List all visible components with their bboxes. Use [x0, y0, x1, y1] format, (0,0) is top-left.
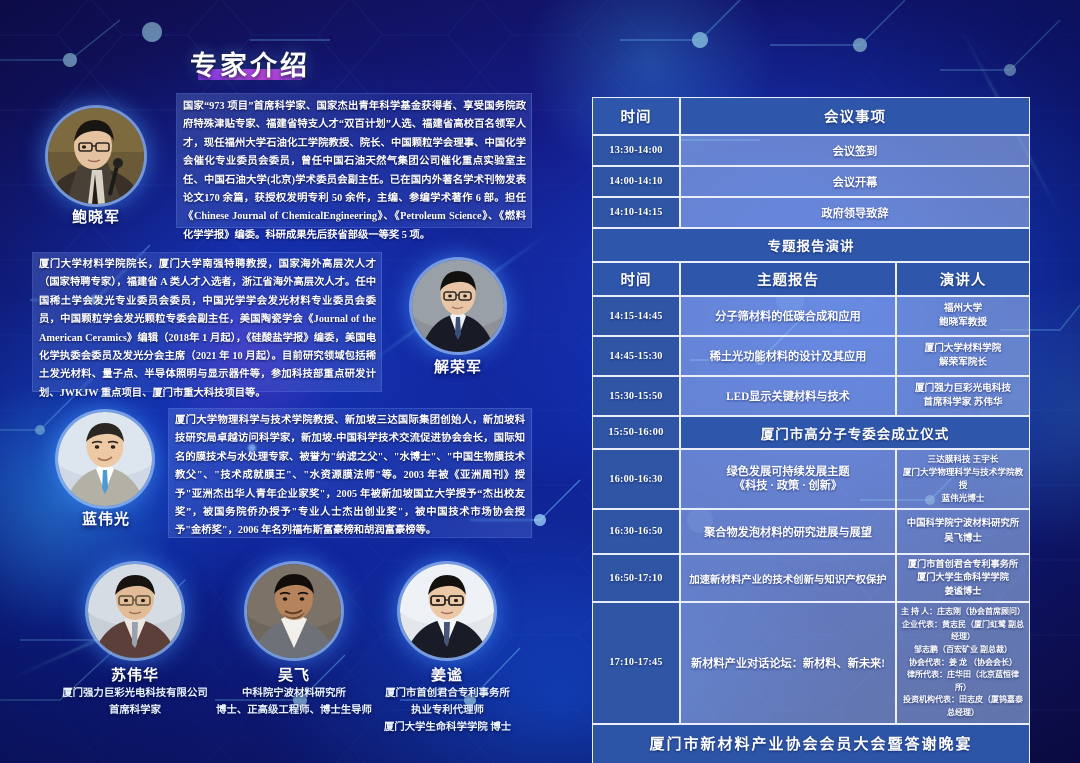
cell-time: 14:15-14:45 [592, 296, 680, 336]
cell-topic: 新材料产业对话论坛：新材料、新未来! [680, 602, 896, 723]
cell-time: 14:00-14:10 [592, 166, 680, 197]
expert-affiliation-6: 厦门市首创君合专利事务所 执业专利代理师 厦门大学生命科学学院 博士 [330, 685, 565, 736]
cell-speaker: 厦门大学材料学院 解荣军院长 [896, 336, 1030, 376]
expert-portrait-1 [48, 108, 144, 204]
expert-portrait-6 [400, 564, 494, 658]
table-band-row-ceremony: 15:50-16:00 厦门市高分子专委会成立仪式 [592, 416, 1030, 449]
expert-name-5: 吴飞 [234, 664, 354, 685]
table-header-row-2: 时间 主题报告 演讲人 [592, 262, 1030, 296]
cell-speaker: 中国科学院宁波材料研究所 吴飞博士 [896, 509, 1030, 554]
cell-speaker: 厦门强力巨彩光电科技 首席科学家 苏伟华 [896, 376, 1030, 416]
cell-time: 16:50-17:10 [592, 554, 680, 602]
portrait-image-4 [88, 564, 182, 658]
final-banquet-label: 厦门市新材料产业协会会员大会暨答谢晚宴 [592, 724, 1030, 763]
agenda-column: 大会议程 时间 会议事项 13:30-14:00 会议签到 14:00-14:1… [560, 0, 1080, 763]
expert-portrait-3 [58, 412, 152, 506]
band-ceremony-label: 厦门市高分子专委会成立仪式 [680, 416, 1030, 449]
expert-bio-text-2: 厦门大学材料学院院长，厦门大学南强特聘教授，国家海外高层次人才（国家特聘专家），… [39, 256, 376, 403]
cell-time: 15:30-15:50 [592, 376, 680, 416]
cell-item: 会议签到 [680, 135, 1030, 166]
table-row: 14:00-14:10 会议开幕 [592, 166, 1030, 197]
cell-item: 会议开幕 [680, 166, 1030, 197]
agenda-table: 时间 会议事项 13:30-14:00 会议签到 14:00-14:10 会议开… [592, 97, 1030, 763]
expert-name-2: 解荣军 [398, 356, 518, 377]
band-talks-label: 专题报告演讲 [592, 228, 1030, 262]
expert-name-6: 姜谧 [387, 664, 507, 685]
cell-time: 16:30-16:50 [592, 509, 680, 554]
cell-forum-panelists: 主 持 人：庄志刚（协会首席顾问） 企业代表：黄志民（厦门虹鹭 副总经理） 邹志… [896, 602, 1030, 723]
experts-section-title: 专家介绍 [190, 44, 310, 83]
expert-bio-text-3: 厦门大学物理科学与技术学院教授、新加坡三达国际集团创始人，新加坡科技研究局卓越访… [175, 412, 525, 541]
cell-time: 14:45-15:30 [592, 336, 680, 376]
table-row: 14:45-15:30 稀土光功能材料的设计及其应用 厦门大学材料学院 解荣军院… [592, 336, 1030, 376]
expert-name-1: 鲍晓军 [36, 206, 156, 227]
cell-topic: 加速新材料产业的技术创新与知识产权保护 [680, 554, 896, 602]
cell-speaker: 三达膜科技 王宇长 厦门大学物理科学与技术学院教授 蓝伟光博士 [896, 449, 1030, 509]
table-final-row: 厦门市新材料产业协会会员大会暨答谢晚宴 [592, 724, 1030, 763]
portrait-image-5 [247, 564, 341, 658]
portrait-image-6 [400, 564, 494, 658]
expert-bio-text-1: 国家“973 项目”首席科学家、国家杰出青年科学基金获得者、享受国务院政府特殊津… [183, 98, 526, 245]
cell-time: 17:10-17:45 [592, 602, 680, 723]
table-row: 13:30-14:00 会议签到 [592, 135, 1030, 166]
cell-topic: LED显示关键材料与技术 [680, 376, 896, 416]
expert-portrait-4 [88, 564, 182, 658]
table-row: 14:15-14:45 分子筛材料的低碳合成和应用 福州大学 鲍晓军教授 [592, 296, 1030, 336]
header-speaker: 演讲人 [896, 262, 1030, 296]
header-time-1: 时间 [592, 97, 680, 135]
cell-time: 14:10-14:15 [592, 197, 680, 228]
cell-time: 13:30-14:00 [592, 135, 680, 166]
table-header-row-1: 时间 会议事项 [592, 97, 1030, 135]
cell-speaker: 福州大学 鲍晓军教授 [896, 296, 1030, 336]
table-row: 16:50-17:10 加速新材料产业的技术创新与知识产权保护 厦门市首创君合专… [592, 554, 1030, 602]
portrait-image-2 [412, 260, 504, 352]
expert-name-4: 苏伟华 [75, 664, 195, 685]
table-row-forum: 17:10-17:45 新材料产业对话论坛：新材料、新未来! 主 持 人：庄志刚… [592, 602, 1030, 723]
cell-time: 15:50-16:00 [592, 416, 680, 449]
cell-topic: 分子筛材料的低碳合成和应用 [680, 296, 896, 336]
expert-name-3: 蓝伟光 [46, 508, 166, 529]
table-row: 15:30-15:50 LED显示关键材料与技术 厦门强力巨彩光电科技 首席科学… [592, 376, 1030, 416]
portrait-image-3 [58, 412, 152, 506]
cell-item: 政府领导致辞 [680, 197, 1030, 228]
header-item: 会议事项 [680, 97, 1030, 135]
cell-topic: 绿色发展可持续发展主题 《科技 · 政策 · 创新》 [680, 449, 896, 509]
portrait-image-1 [48, 108, 144, 204]
table-row: 16:00-16:30 绿色发展可持续发展主题 《科技 · 政策 · 创新》 三… [592, 449, 1030, 509]
cell-time: 16:00-16:30 [592, 449, 680, 509]
table-band-row-talks: 专题报告演讲 [592, 228, 1030, 262]
expert-portrait-5 [247, 564, 341, 658]
header-time-2: 时间 [592, 262, 680, 296]
cell-topic: 稀土光功能材料的设计及其应用 [680, 336, 896, 376]
cell-speaker: 厦门市首创君合专利事务所 厦门大学生命科学学院 姜谧博士 [896, 554, 1030, 602]
experts-title-text: 专家介绍 [190, 51, 310, 81]
experts-column: 专家介绍 国家“973 项目”首席科学家、国家杰出青年科学基金获得者、享受国务院… [0, 0, 560, 763]
table-row: 14:10-14:15 政府领导致辞 [592, 197, 1030, 228]
table-row: 16:30-16:50 聚合物发泡材料的研究进展与展望 中国科学院宁波材料研究所… [592, 509, 1030, 554]
expert-portrait-2 [412, 260, 504, 352]
cell-topic: 聚合物发泡材料的研究进展与展望 [680, 509, 896, 554]
header-topic: 主题报告 [680, 262, 896, 296]
